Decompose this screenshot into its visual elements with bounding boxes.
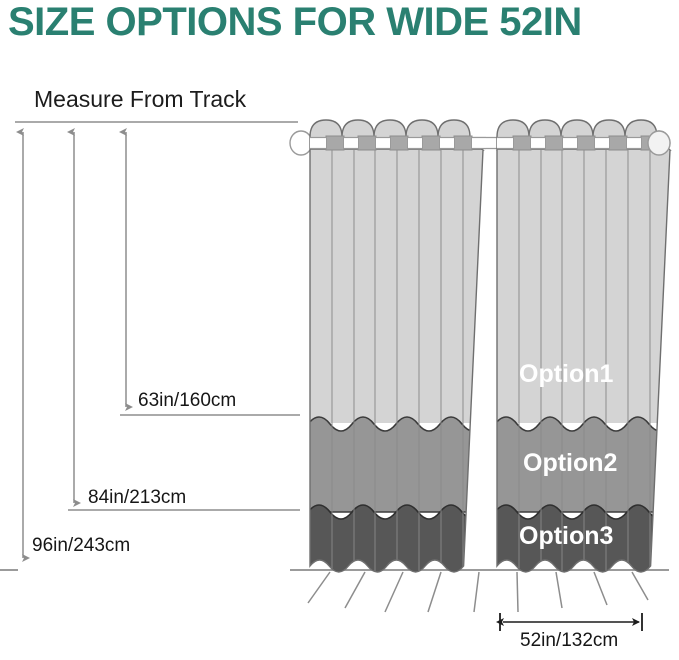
curtain-panel-right (495, 120, 672, 580)
option3-label: Option3 (519, 522, 613, 551)
curtain-panel-left (308, 120, 486, 580)
dimension-label-84in: 84in/213cm (88, 487, 186, 509)
diagram-graphics (0, 0, 679, 660)
floor-hatch-icon (308, 572, 648, 612)
dimension-label-96in: 96in/243cm (32, 535, 130, 557)
option1-label: Option1 (519, 360, 613, 389)
dimension-arrow-width (500, 613, 642, 631)
dimension-label-width: 52in/132cm (520, 630, 618, 652)
size-options-diagram: SIZE OPTIONS FOR WIDE 52IN Measure From … (0, 0, 679, 660)
dimension-label-63in: 63in/160cm (138, 390, 236, 412)
option2-label: Option2 (523, 449, 617, 478)
